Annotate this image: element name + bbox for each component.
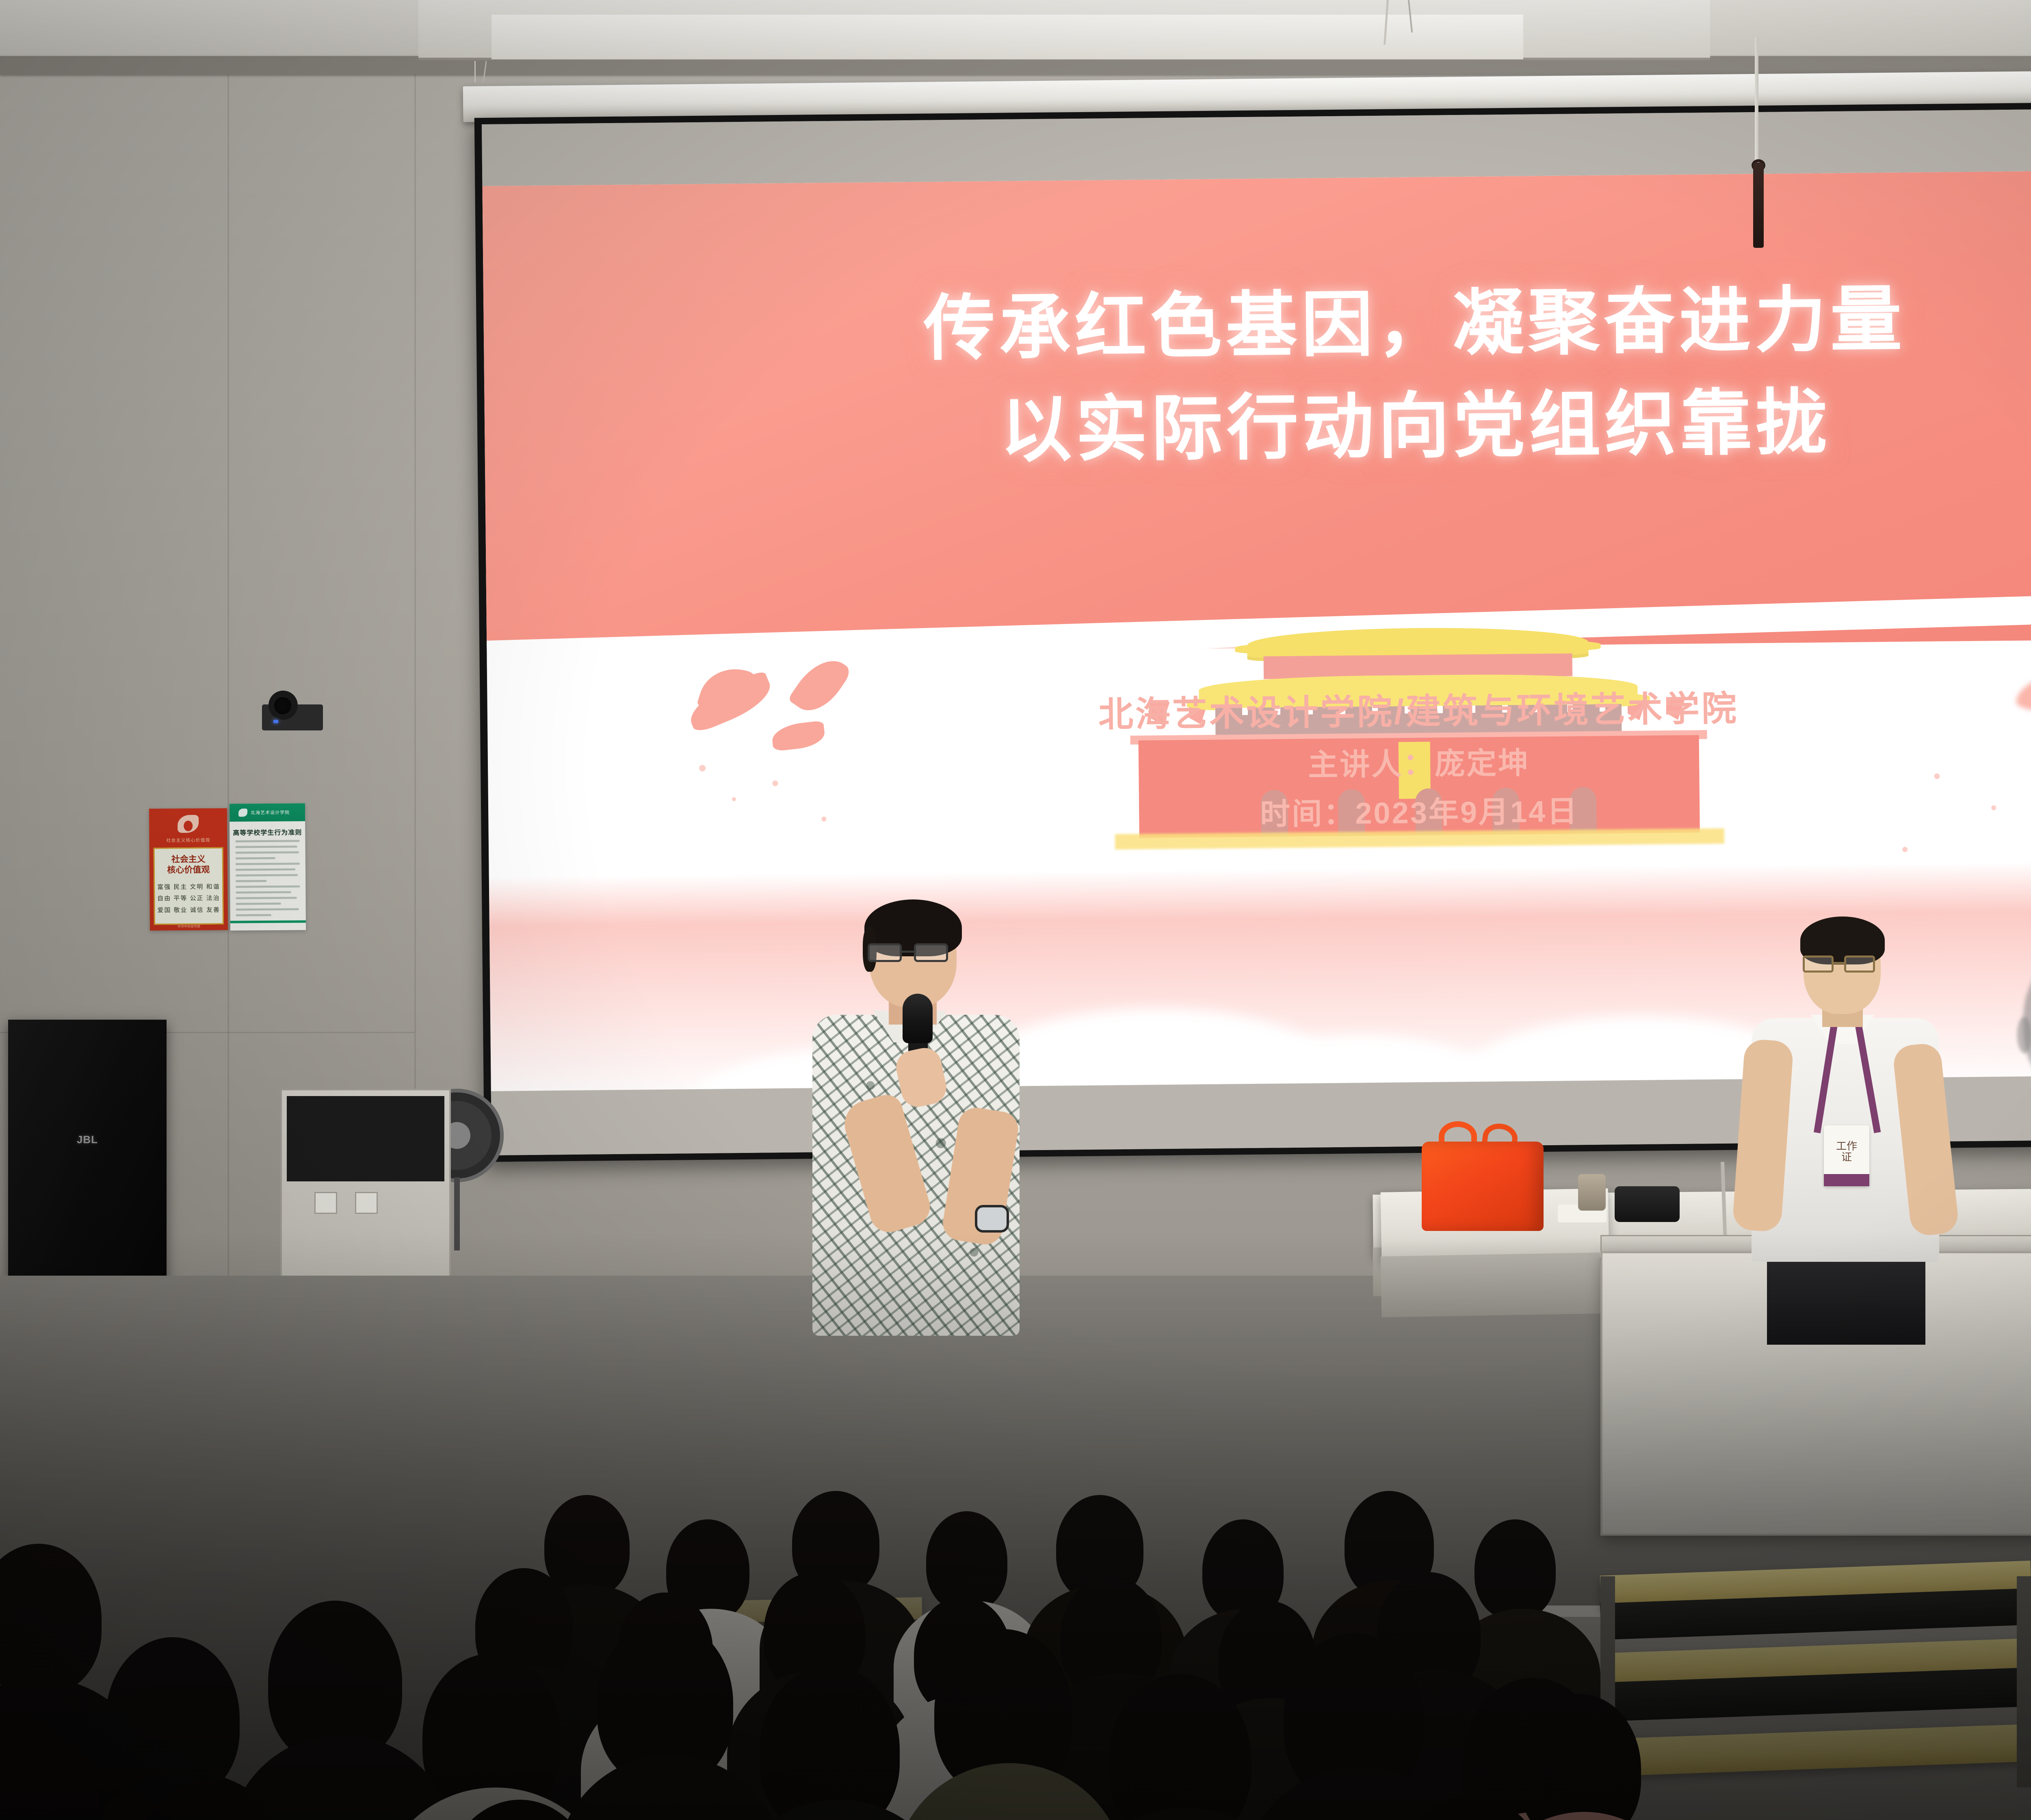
poster-footer-band: [230, 920, 306, 923]
handheld-microphone-icon: [903, 994, 933, 1043]
poster-title: 高等学校学生行为准则: [230, 827, 305, 837]
lecture-hall-scene: 传承红色基因，凝聚奋进力量 以实际行动向党组织靠拢 北海艺术设计学院/建筑与环境…: [0, 0, 2031, 1820]
ceiling-duct-inner: [492, 15, 1523, 59]
poster-card: 社会主义核心价值观 富强 民主 文明 和谐 自由 平等 公正 法治 爱国 敬业 …: [154, 847, 224, 925]
slide-title-line1: 传承红色基因，凝聚奋进力量: [483, 257, 2031, 378]
screen-pull-rod[interactable]: [1755, 37, 1758, 171]
student-desk: [1616, 1723, 2031, 1776]
projected-shadow-detail: [2017, 1017, 2031, 1053]
id-badge: 工作证: [1824, 1125, 1869, 1186]
audience-head: [544, 1495, 630, 1597]
core-values-poster: 社会主义核心价值观 社会主义核心价值观 富强 民主 文明 和谐 自由 平等 公正…: [149, 808, 228, 930]
screen-chain: [474, 61, 476, 82]
poster-body-text: [236, 840, 300, 920]
glasses-icon: [868, 943, 957, 962]
wall-seam: [414, 75, 416, 1090]
jbl-logo: JBL: [77, 1133, 98, 1146]
audience-head: [1475, 1519, 1556, 1619]
desk-leg: [2017, 1576, 2031, 1787]
core-values-emblem-inner: [184, 821, 193, 831]
poster-title: 社会主义核心价值观: [155, 854, 222, 876]
wall-seam: [227, 75, 229, 1318]
ptz-camera-icon: [262, 691, 323, 730]
id-badge-text: 工作证: [1824, 1141, 1869, 1163]
audience-head: [926, 1511, 1007, 1611]
paper-cup: [1578, 1174, 1606, 1211]
poster-footer: 中共中央宣传部: [150, 924, 228, 929]
glasses-icon: [1803, 955, 1882, 973]
audience-area: [0, 1211, 2031, 1820]
audience-head: [0, 1544, 102, 1694]
slide-title-line2: 以实际行动向党组织靠拢: [484, 359, 2031, 481]
screen-pull-handle[interactable]: [1753, 162, 1764, 248]
camera-led-indicator: [273, 720, 278, 723]
student-conduct-poster: 北海艺术设计学院 高等学校学生行为准则: [230, 803, 306, 930]
poster-values: 富强 民主 文明 和谐 自由 平等 公正 法治 爱国 敬业 诚信 友善: [155, 881, 223, 916]
poster-subtitle: 社会主义核心价值观: [149, 836, 227, 843]
poster-header-text: 北海艺术设计学院: [251, 809, 290, 816]
